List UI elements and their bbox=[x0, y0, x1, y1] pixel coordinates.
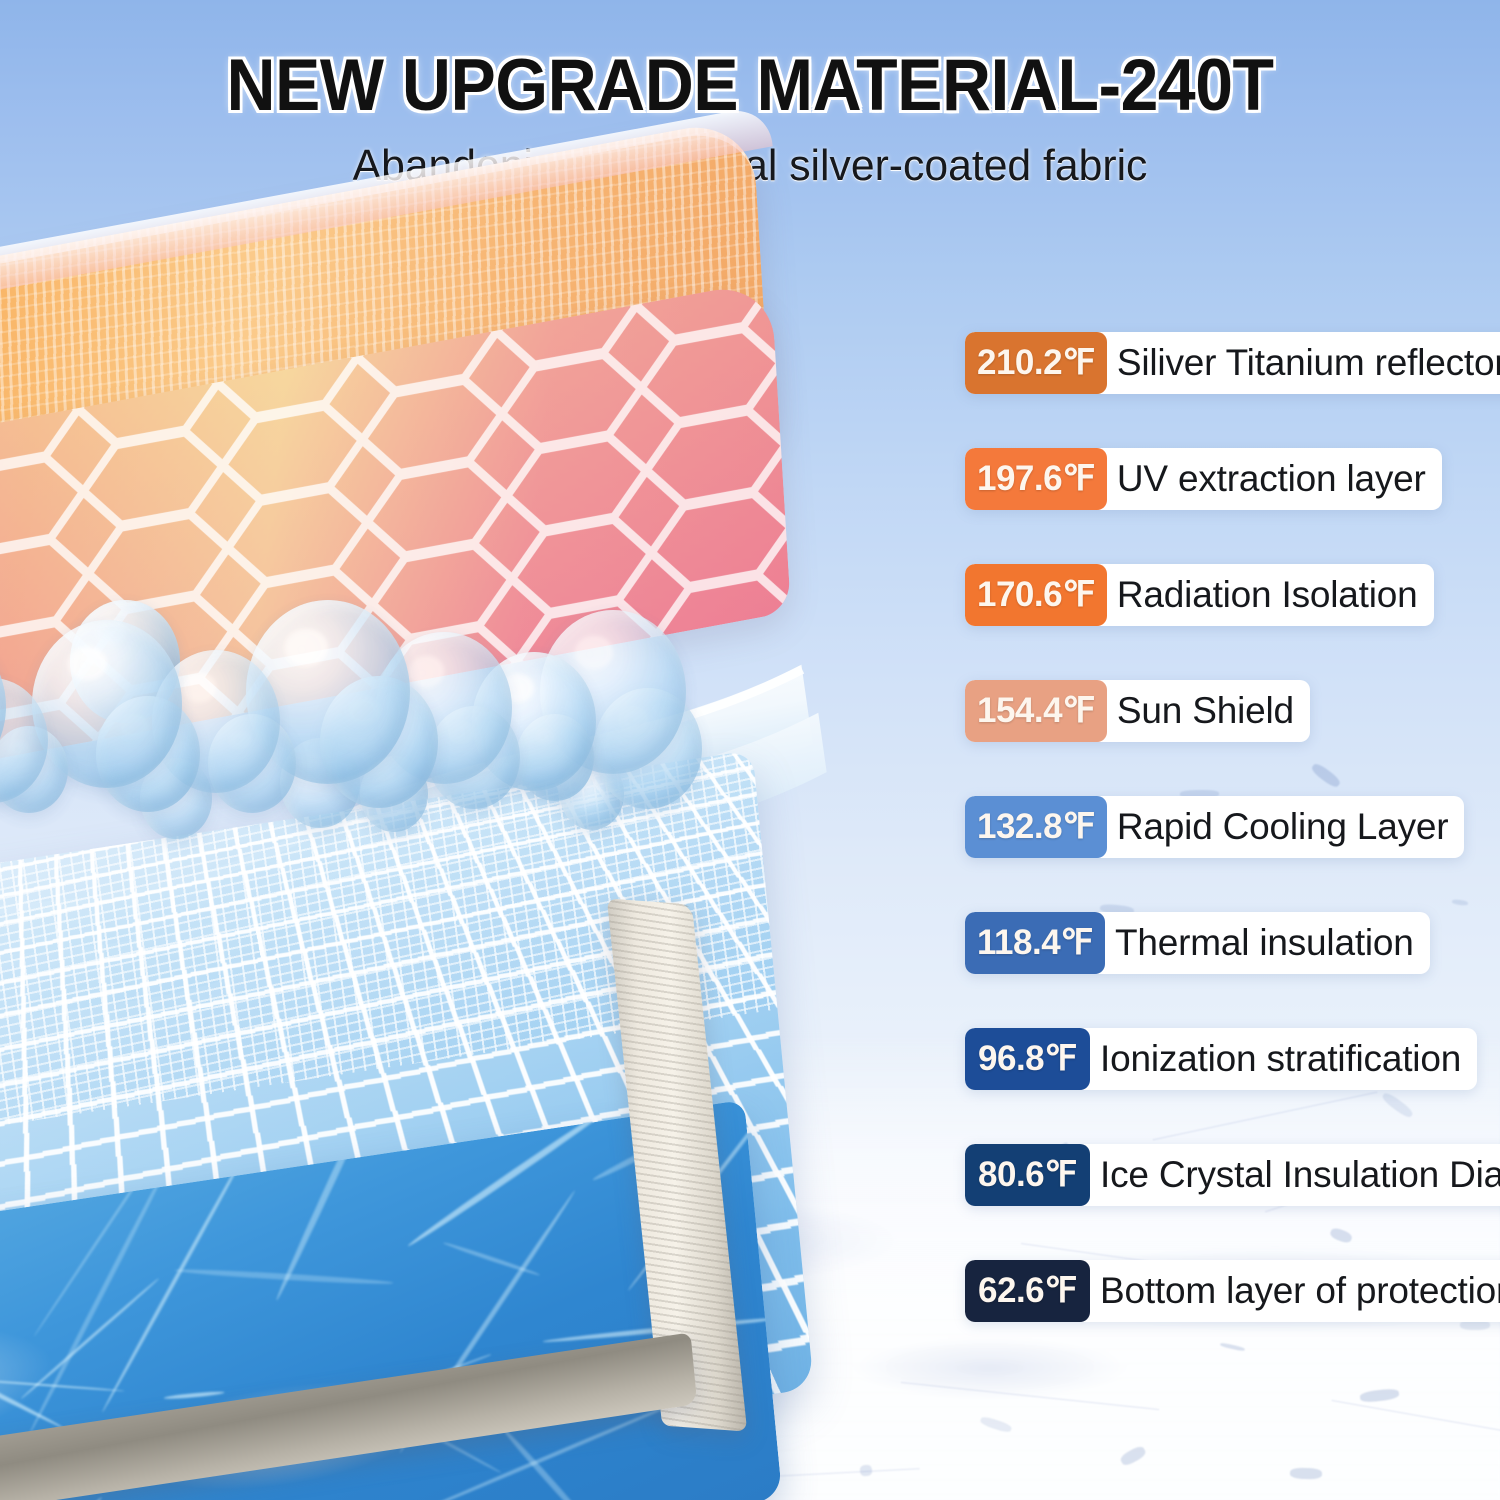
temperature-badge: 80.6℉ bbox=[965, 1144, 1090, 1206]
layer-name-label: Bottom layer of protection bbox=[1090, 1260, 1500, 1322]
layer-name-label: Siliver Titanium reflector bbox=[1107, 332, 1500, 394]
temperature-badge: 132.8℉ bbox=[965, 796, 1107, 858]
layer-label-row[interactable]: 118.4℉Thermal insulation bbox=[965, 912, 1430, 974]
ice-crystal-vein bbox=[20, 1278, 159, 1400]
temperature-badge: 210.2℉ bbox=[965, 332, 1107, 394]
temperature-badge: 62.6℉ bbox=[965, 1260, 1090, 1322]
layer-label-row[interactable]: 210.2℉Siliver Titanium reflector bbox=[965, 332, 1500, 394]
ice-crystal-vein bbox=[164, 1391, 225, 1401]
ice-crystal-vein bbox=[499, 1425, 598, 1500]
layer-label-row[interactable]: 96.8℉Ionization stratification bbox=[965, 1028, 1477, 1090]
layer-label-row[interactable]: 154.4℉Sun Shield bbox=[965, 680, 1310, 742]
layer-name-label: Ice Crystal Insulation Diagram bbox=[1090, 1144, 1500, 1206]
cooling-bubble-cluster bbox=[0, 500, 740, 830]
temperature-badge: 170.6℉ bbox=[965, 564, 1107, 626]
layer-name-label: Rapid Cooling Layer bbox=[1107, 796, 1464, 858]
frost-fleck bbox=[1290, 1468, 1322, 1480]
layer-name-label: Sun Shield bbox=[1107, 680, 1310, 742]
layer-name-label: Ionization stratification bbox=[1090, 1028, 1477, 1090]
layer-label-row[interactable]: 197.6℉UV extraction layer bbox=[965, 448, 1442, 510]
layer-name-label: Radiation Isolation bbox=[1107, 564, 1434, 626]
temperature-badge: 118.4℉ bbox=[965, 912, 1105, 974]
layer-name-label: Thermal insulation bbox=[1105, 912, 1430, 974]
ice-crystal-vein bbox=[0, 1377, 125, 1392]
layer-label-row[interactable]: 132.8℉Rapid Cooling Layer bbox=[965, 796, 1464, 858]
layer-label-list: 210.2℉Siliver Titanium reflector197.6℉UV… bbox=[965, 332, 1500, 1322]
temperature-badge: 197.6℉ bbox=[965, 448, 1107, 510]
temperature-badge: 96.8℉ bbox=[965, 1028, 1090, 1090]
temperature-badge: 154.4℉ bbox=[965, 680, 1107, 742]
layer-label-row[interactable]: 170.6℉Radiation Isolation bbox=[965, 564, 1434, 626]
layer-label-row[interactable]: 62.6℉Bottom layer of protection bbox=[965, 1260, 1500, 1322]
layer-name-label: UV extraction layer bbox=[1107, 448, 1442, 510]
layer-label-row[interactable]: 80.6℉Ice Crystal Insulation Diagram bbox=[965, 1144, 1500, 1206]
fabric-cross-section-illustration bbox=[0, 200, 1000, 1490]
